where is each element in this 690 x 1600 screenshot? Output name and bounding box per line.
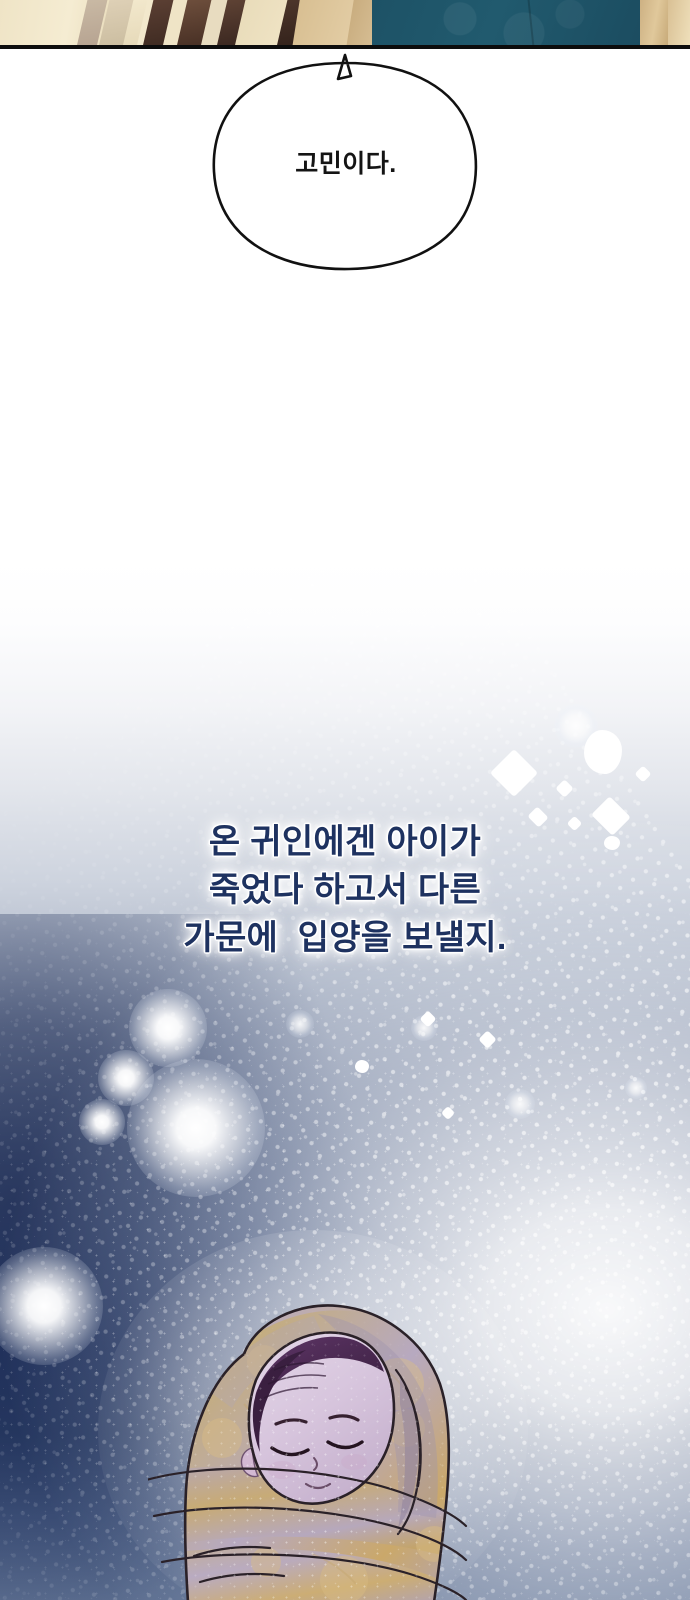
swaddled-baby xyxy=(148,1262,468,1600)
baby-cheek-right xyxy=(341,1454,367,1470)
speech-bubble: 고민이다. xyxy=(196,49,496,279)
narration-line-1: 온 귀인에겐 아이가 xyxy=(0,818,690,866)
narration-caption: 온 귀인에겐 아이가 죽었다 하고서 다른 가문에 입양을 보낼지. xyxy=(0,818,690,962)
swaddled-baby-illustration xyxy=(148,1262,468,1600)
narration-line-2: 죽었다 하고서 다른 xyxy=(0,866,690,914)
previous-panel-sliver xyxy=(0,0,690,47)
webtoon-page: 고민이다. 온 귀인에겐 아이가 죽었다 하고서 다른 가문에 입양을 보낼지. xyxy=(0,0,690,1600)
white-panel: 고민이다. xyxy=(0,49,690,629)
teal-garment xyxy=(372,0,644,47)
gold-trim-far-right xyxy=(668,0,690,47)
speech-bubble-text: 고민이다. xyxy=(196,144,496,180)
narration-line-3: 가문에 입양을 보낼지. xyxy=(0,914,690,962)
gold-trim-right xyxy=(640,0,670,47)
